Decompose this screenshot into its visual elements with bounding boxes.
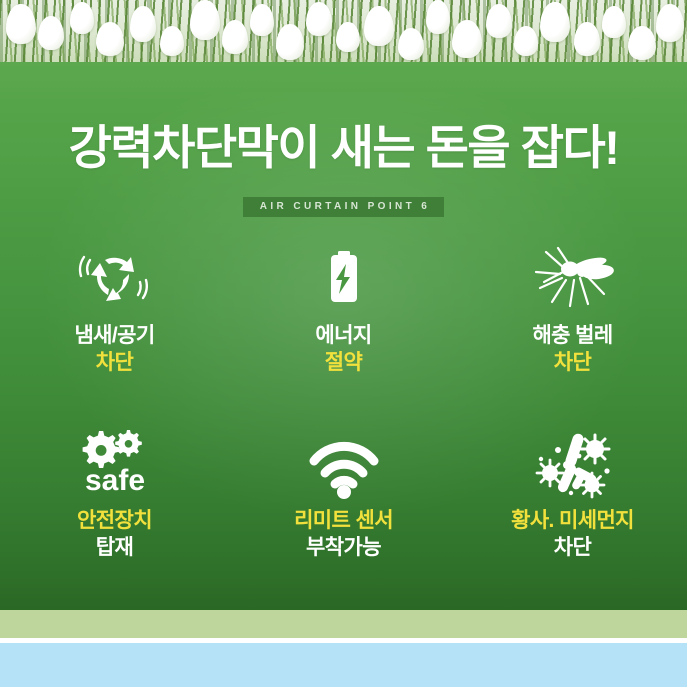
feature-label-line2: 차단	[96, 349, 133, 376]
air-circulation-icon	[72, 236, 158, 322]
page-title: 강력차단막이 새는 돈을 잡다!	[0, 118, 687, 178]
feature-item-safety: safe 안전장치 탑재	[0, 421, 229, 606]
blue-section-strip	[0, 643, 687, 687]
feature-label-line2: 차단	[554, 534, 591, 561]
feature-label-line1: 냄새/공기	[74, 322, 154, 349]
feature-item-insect: 해충 벌레 차단	[458, 236, 687, 421]
feature-label-line1: 해충 벌레	[532, 322, 612, 349]
status-badge: AIR CURTAIN POINT 6	[243, 197, 445, 217]
feature-item-air: 냄새/공기 차단	[0, 236, 229, 421]
safe-gears-icon: safe	[65, 421, 165, 507]
safe-icon-label: safe	[84, 464, 144, 497]
battery-bolt-icon	[301, 236, 387, 322]
germs-dust-icon	[523, 421, 623, 507]
feature-label-line1: 황사. 미세먼지	[511, 507, 634, 534]
feature-item-dust: 황사. 미세먼지 차단	[458, 421, 687, 606]
feature-label-line2: 절약	[325, 349, 362, 376]
panel-top-fade	[0, 62, 687, 92]
feature-label-line2: 부착가능	[306, 534, 381, 561]
feature-grid: 냄새/공기 차단 에너지 절약	[0, 236, 687, 606]
subtitle-badge-wrap: AIR CURTAIN POINT 6	[0, 196, 687, 217]
promo-banner: 강력차단막이 새는 돈을 잡다! AIR CURTAIN POINT 6	[0, 0, 687, 687]
feature-label-line1: 에너지	[315, 322, 371, 349]
feature-label-line1: 리미트 센서	[294, 507, 393, 534]
feature-label-line2: 탑재	[96, 534, 133, 561]
sage-divider-strip	[0, 610, 687, 638]
mosquito-icon	[518, 236, 628, 322]
feature-item-energy: 에너지 절약	[229, 236, 458, 421]
feature-label-line2: 차단	[554, 349, 591, 376]
feature-item-sensor: 리미트 센서 부착가능	[229, 421, 458, 606]
feature-label-line1: 안전장치	[77, 507, 152, 534]
wifi-signal-icon	[298, 421, 390, 507]
